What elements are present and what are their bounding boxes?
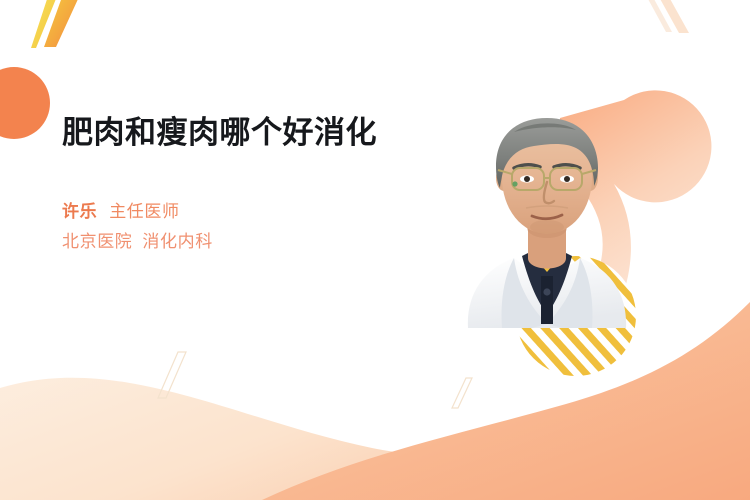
glasses-glint [512,181,517,186]
salmon-wave-decor [262,302,750,500]
doctor-portrait-illustration [452,96,642,328]
polo-button [543,288,550,295]
doctor-hospital: 北京医院 [62,232,132,251]
doctor-video-cover-card: 肥肉和瘦肉哪个好消化 许乐主任医师 北京医院消化内科 [0,0,750,500]
stripe-pair-top-right [642,0,689,33]
orange-circle-decor [0,67,50,139]
doctor-byline: 许乐主任医师 [62,197,422,227]
pupil-right [564,176,570,182]
chin-shadow [530,220,564,234]
doctor-rank: 主任医师 [109,202,179,221]
polo-placket [541,276,553,324]
doctor-portrait [452,96,642,328]
doctor-affiliation: 北京医院消化内科 [62,227,422,257]
doctor-name: 许乐 [62,202,97,221]
text-block: 肥肉和瘦肉哪个好消化 许乐主任医师 北京医院消化内科 [62,112,422,257]
page-title: 肥肉和瘦肉哪个好消化 [62,112,422,153]
faint-stripe-decor [158,352,472,408]
stripe-pair-top-left [31,0,84,48]
pupil-left [524,176,530,182]
doctor-department: 消化内科 [142,232,212,251]
